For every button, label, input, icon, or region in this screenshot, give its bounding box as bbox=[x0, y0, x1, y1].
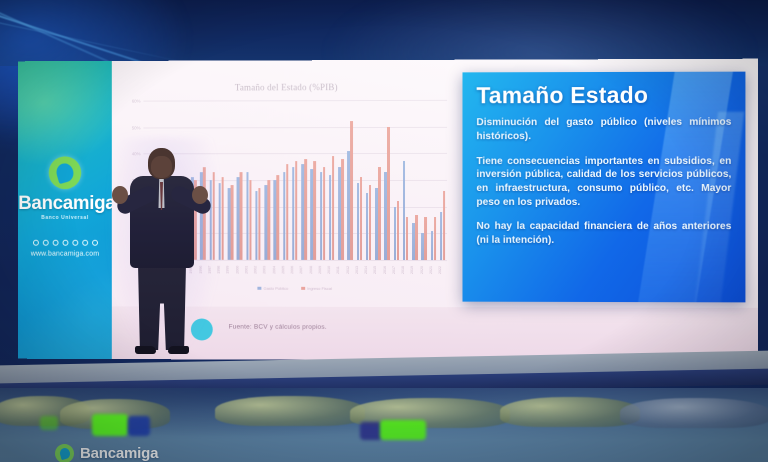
speaker-hand bbox=[112, 186, 128, 204]
chart-bar bbox=[314, 161, 316, 259]
chart-bar-group bbox=[290, 100, 299, 260]
bancamiga-tagline: Banco Universal bbox=[18, 215, 112, 221]
chart-bar bbox=[360, 177, 362, 260]
chart-bar-group bbox=[217, 100, 226, 259]
chart-bar bbox=[212, 172, 214, 260]
chart-x-tick-label: 2009 bbox=[318, 262, 327, 278]
chart-bar-group bbox=[253, 100, 262, 260]
card-paragraph: No hay la capacidad financiera de años a… bbox=[476, 220, 731, 248]
bancamiga-url: www.bancamiga.com bbox=[18, 251, 112, 258]
chart-bar bbox=[231, 185, 233, 259]
chart-x-tick-label: 2007 bbox=[299, 262, 308, 278]
chart-bar bbox=[424, 217, 426, 260]
chart-bar-group bbox=[438, 100, 447, 260]
chart-bar-group bbox=[392, 100, 401, 260]
chart-bar-group bbox=[373, 100, 382, 260]
speaker-face bbox=[151, 156, 172, 178]
chart-bar bbox=[249, 180, 251, 260]
chart-bar-group bbox=[355, 100, 364, 260]
chart-legend-swatch bbox=[301, 287, 304, 290]
bancamiga-logo: Bancamiga Banco Universal www.bancamiga.… bbox=[18, 156, 112, 257]
chart-bar bbox=[268, 180, 270, 260]
chart-x-tick-label: 2012 bbox=[346, 262, 355, 278]
chart-bar-group bbox=[383, 100, 392, 260]
chart-x-tick-label: 2008 bbox=[309, 262, 318, 278]
chart-bar bbox=[415, 215, 417, 260]
chart-x-tick-label: 2016 bbox=[383, 262, 392, 278]
chart-x-tick-label: 2000 bbox=[235, 262, 244, 278]
chart-x-tick-label: 2004 bbox=[272, 262, 281, 278]
chart-bar bbox=[378, 167, 380, 260]
card-paragraph: Disminución del gasto público (niveles m… bbox=[476, 116, 731, 144]
chart-source-note: Fuente: BCV y cálculos propios. bbox=[229, 324, 327, 331]
speaker-presenter bbox=[118, 148, 210, 360]
bancamiga-leaf-icon bbox=[49, 156, 82, 189]
conference-stage-photo: Bancamiga Banco Universal www.bancamiga.… bbox=[0, 0, 768, 462]
chart-bar bbox=[406, 217, 408, 260]
chart-x-tick-label: 2022 bbox=[438, 262, 447, 278]
chart-bar-group bbox=[318, 100, 327, 260]
chart-bar bbox=[350, 121, 352, 260]
chart-x-tick-label: 2017 bbox=[392, 262, 401, 278]
stage-uplight bbox=[92, 414, 128, 436]
chart-bar-group bbox=[346, 100, 355, 260]
chart-x-tick-label: 2021 bbox=[429, 262, 438, 278]
chart-bar-group bbox=[226, 100, 235, 259]
chart-legend-swatch bbox=[258, 287, 261, 290]
chart-bar bbox=[387, 127, 389, 260]
chart-legend-label: Ingreso Fiscal bbox=[307, 286, 332, 291]
chart-bar bbox=[222, 177, 224, 259]
chart-bar-group bbox=[281, 100, 290, 260]
stage-foliage bbox=[500, 397, 640, 427]
chart-bar-group bbox=[327, 100, 336, 260]
chart-bar bbox=[434, 217, 436, 260]
chart-x-tick-label: 2002 bbox=[253, 262, 262, 278]
chart-bar-group bbox=[235, 100, 244, 259]
chart-x-tick-label: 2006 bbox=[290, 262, 299, 278]
chart-y-tick-label: 50% bbox=[119, 125, 141, 130]
chart-bar-group bbox=[420, 100, 429, 260]
chart-x-tick-label: 1999 bbox=[226, 262, 235, 278]
chart-title: Tamaño del Estado (%PIB) bbox=[118, 82, 456, 93]
led-brand-panel: Bancamiga Banco Universal www.bancamiga.… bbox=[18, 61, 112, 359]
chart-x-tick-label: 2019 bbox=[410, 262, 419, 278]
speaker-hand bbox=[192, 186, 208, 204]
chart-bar bbox=[341, 159, 343, 260]
chart-bar-group bbox=[263, 100, 272, 260]
chart-bar bbox=[304, 159, 306, 260]
chart-legend-label: Gasto Público bbox=[263, 286, 288, 291]
chart-legend-item: Ingreso Fiscal bbox=[301, 286, 332, 291]
chart-x-tick-label: 2018 bbox=[401, 262, 410, 278]
chart-bar-group bbox=[401, 100, 410, 260]
stage-foliage bbox=[215, 396, 365, 426]
chart-bar-group bbox=[336, 100, 345, 260]
bancamiga-leaf-icon bbox=[55, 444, 74, 462]
chart-bar-group bbox=[244, 100, 253, 260]
speaker-legs bbox=[138, 264, 186, 350]
chart-x-tick-label: 2020 bbox=[420, 262, 429, 278]
chart-bar-group bbox=[364, 100, 373, 260]
decorative-dots bbox=[18, 240, 112, 246]
stage-uplight bbox=[360, 422, 382, 440]
card-title: Tamaño Estado bbox=[476, 84, 731, 108]
card-paragraph: Tiene consecuencias importantes en subsi… bbox=[476, 155, 731, 210]
chart-bar-group bbox=[429, 100, 438, 260]
chart-bar bbox=[258, 188, 260, 260]
chart-x-tick-label: 2011 bbox=[336, 262, 345, 278]
chart-x-tick-label: 2010 bbox=[327, 262, 336, 278]
chart-x-tick-label: 2005 bbox=[281, 262, 290, 278]
chart-x-tick-label: 2001 bbox=[244, 262, 253, 278]
stage-foliage bbox=[620, 398, 768, 428]
speaker-shoe bbox=[135, 346, 156, 354]
stage-uplight bbox=[380, 420, 426, 440]
chart-bar bbox=[277, 175, 279, 260]
chart-bar bbox=[332, 156, 334, 260]
slide-title-card: Tamaño Estado Disminución del gasto públ… bbox=[462, 72, 745, 303]
chart-x-tick-label: 2014 bbox=[364, 262, 373, 278]
speaker-shoe bbox=[168, 346, 189, 354]
stage-uplight bbox=[40, 416, 58, 430]
chart-bar-group bbox=[410, 100, 419, 260]
stage-uplight bbox=[128, 416, 150, 436]
stage-bottom-logo: Bancamiga bbox=[55, 444, 158, 462]
chart-bar bbox=[286, 164, 288, 260]
chart-x-tick-label: 2013 bbox=[355, 262, 364, 278]
chart-bar bbox=[323, 167, 325, 260]
chart-x-tick-label: 1998 bbox=[217, 262, 226, 278]
chart-bar-group bbox=[309, 100, 318, 260]
chart-bar bbox=[397, 201, 399, 260]
bancamiga-wordmark: Bancamiga bbox=[80, 445, 158, 462]
chart-x-tick-label: 2015 bbox=[373, 262, 382, 278]
bancamiga-wordmark: Bancamiga bbox=[18, 194, 112, 213]
chart-bar bbox=[240, 172, 242, 260]
chart-bar-group bbox=[299, 100, 308, 260]
chart-bar bbox=[443, 191, 445, 260]
chart-bar bbox=[295, 161, 297, 259]
chart-bar bbox=[369, 185, 371, 260]
chart-legend-item: Gasto Público bbox=[258, 286, 289, 291]
chart-x-tick-label: 2003 bbox=[263, 262, 272, 278]
chart-y-tick-label: 60% bbox=[119, 99, 141, 104]
chart-bar-group bbox=[272, 100, 281, 260]
